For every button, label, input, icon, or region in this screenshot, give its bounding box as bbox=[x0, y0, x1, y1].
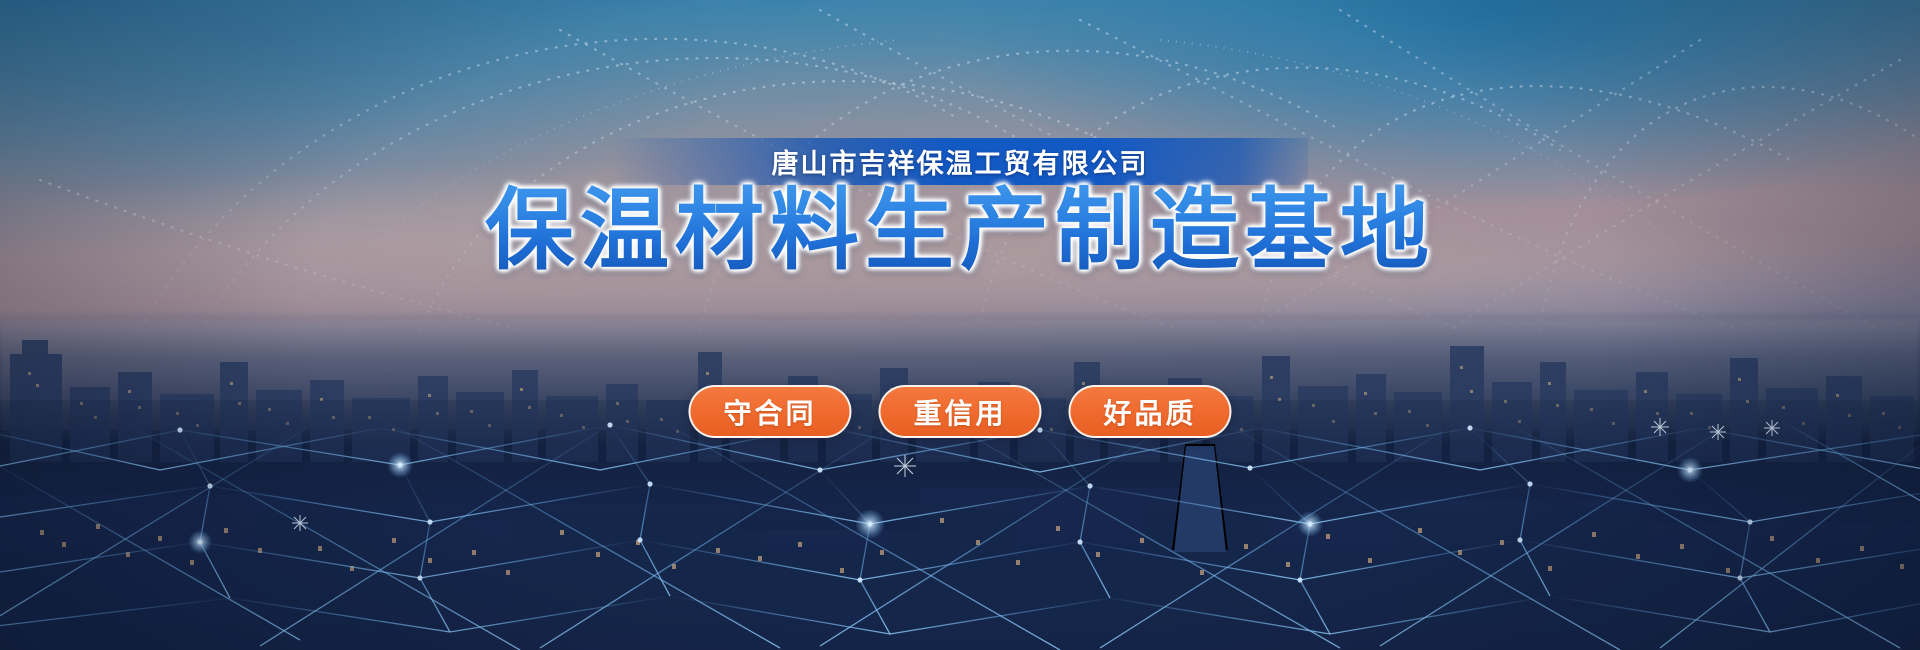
badge-label: 好品质 bbox=[1104, 392, 1197, 432]
badge-group: 守合同 重信用 好品质 bbox=[688, 385, 1231, 438]
badge-contract[interactable]: 守合同 bbox=[688, 385, 851, 438]
badge-label: 重信用 bbox=[913, 392, 1006, 432]
badge-quality[interactable]: 好品质 bbox=[1069, 385, 1232, 438]
page-title: 保温材料生产制造基地 bbox=[485, 182, 1435, 280]
hero-banner: 唐山市吉祥保温工贸有限公司 保温材料生产制造基地 保温材料生产制造基地 守合同 … bbox=[0, 0, 1920, 650]
badge-credit[interactable]: 重信用 bbox=[878, 385, 1041, 438]
badge-label: 守合同 bbox=[723, 392, 816, 432]
headline-wrap: 保温材料生产制造基地 保温材料生产制造基地 bbox=[0, 0, 1920, 650]
banner-content: 唐山市吉祥保温工贸有限公司 保温材料生产制造基地 保温材料生产制造基地 守合同 … bbox=[0, 0, 1920, 650]
